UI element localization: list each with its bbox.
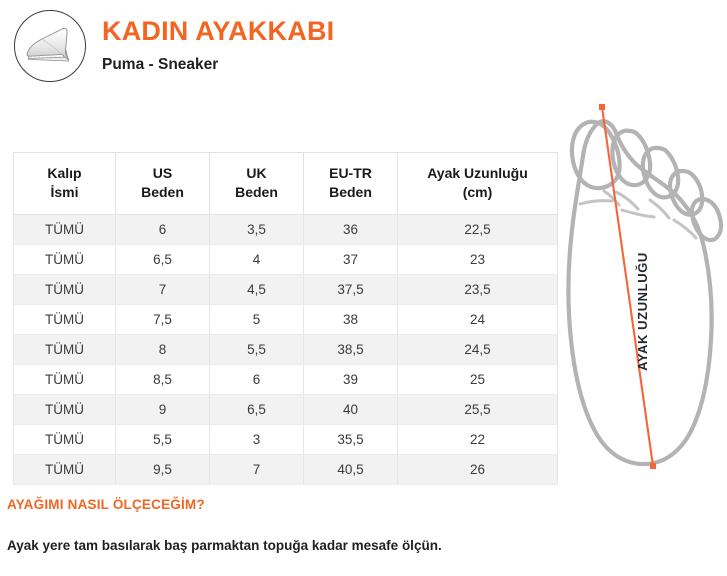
cell-us-beden: 7 [116, 275, 210, 305]
foot-length-label-text: AYAK UZUNLUĞU [635, 252, 650, 371]
cell-us-beden: 6 [116, 215, 210, 245]
cell-kalip-ismi: TÜMÜ [14, 305, 116, 335]
cell-ayak-uzunlugu: 22 [398, 425, 558, 455]
cell-ayak-uzunlugu: 23,5 [398, 275, 558, 305]
table-row: TÜMÜ 7,5 5 38 24 [14, 305, 558, 335]
cell-uk-beden: 4,5 [210, 275, 304, 305]
cell-ayak-uzunlugu: 25,5 [398, 395, 558, 425]
cell-kalip-ismi: TÜMÜ [14, 245, 116, 275]
cell-us-beden: 8 [116, 335, 210, 365]
cell-ayak-uzunlugu: 24,5 [398, 335, 558, 365]
howto-instruction-text: Ayak yere tam basılarak baş parmaktan to… [7, 538, 442, 553]
column-header-us-beden: US Beden [116, 153, 210, 215]
table-row: TÜMÜ 7 4,5 37,5 23,5 [14, 275, 558, 305]
column-header-line1: UK [212, 164, 301, 183]
measure-endpoint-toe [599, 104, 605, 110]
column-header-line1: Ayak Uzunluğu [400, 164, 555, 183]
cell-eu-tr-beden: 37 [304, 245, 398, 275]
measure-endpoint-heel [650, 463, 656, 469]
cell-us-beden: 8,5 [116, 365, 210, 395]
page-header: KADIN AYAKKABI Puma - Sneaker [0, 0, 560, 100]
cell-kalip-ismi: TÜMÜ [14, 275, 116, 305]
cell-eu-tr-beden: 35,5 [304, 425, 398, 455]
cell-us-beden: 9,5 [116, 455, 210, 485]
cell-us-beden: 5,5 [116, 425, 210, 455]
column-header-ayak-uzunlugu: Ayak Uzunluğu (cm) [398, 153, 558, 215]
cell-ayak-uzunlugu: 26 [398, 455, 558, 485]
cell-kalip-ismi: TÜMÜ [14, 335, 116, 365]
cell-us-beden: 9 [116, 395, 210, 425]
cell-kalip-ismi: TÜMÜ [14, 455, 116, 485]
cell-eu-tr-beden: 37,5 [304, 275, 398, 305]
cell-uk-beden: 3,5 [210, 215, 304, 245]
table-row: TÜMÜ 5,5 3 35,5 22 [14, 425, 558, 455]
column-header-line1: US [118, 164, 207, 183]
column-header-line2: Beden [212, 183, 301, 202]
cell-kalip-ismi: TÜMÜ [14, 395, 116, 425]
column-header-uk-beden: UK Beden [210, 153, 304, 215]
table-header-row: Kalıp İsmi US Beden UK Beden EU-TR Beden… [14, 153, 558, 215]
title-block: KADIN AYAKKABI Puma - Sneaker [102, 14, 552, 75]
cell-kalip-ismi: TÜMÜ [14, 425, 116, 455]
table-row: TÜMÜ 8 5,5 38,5 24,5 [14, 335, 558, 365]
cell-eu-tr-beden: 38 [304, 305, 398, 335]
cell-eu-tr-beden: 40 [304, 395, 398, 425]
cell-uk-beden: 7 [210, 455, 304, 485]
cell-eu-tr-beden: 39 [304, 365, 398, 395]
column-header-line2: İsmi [16, 183, 113, 202]
cell-uk-beden: 4 [210, 245, 304, 275]
page-subtitle: Puma - Sneaker [102, 55, 552, 75]
cell-uk-beden: 3 [210, 425, 304, 455]
table-row: TÜMÜ 6,5 4 37 23 [14, 245, 558, 275]
column-header-line2: Beden [118, 183, 207, 202]
column-header-line2: Beden [306, 183, 395, 202]
table-row: TÜMÜ 6 3,5 36 22,5 [14, 215, 558, 245]
cell-ayak-uzunlugu: 24 [398, 305, 558, 335]
cell-us-beden: 6,5 [116, 245, 210, 275]
cell-eu-tr-beden: 40,5 [304, 455, 398, 485]
cell-ayak-uzunlugu: 25 [398, 365, 558, 395]
cell-kalip-ismi: TÜMÜ [14, 365, 116, 395]
howto-heading: AYAĞIMI NASIL ÖLÇECEĞİM? [7, 497, 205, 512]
cell-ayak-uzunlugu: 23 [398, 245, 558, 275]
size-chart-table: Kalıp İsmi US Beden UK Beden EU-TR Beden… [13, 152, 558, 485]
cell-uk-beden: 6 [210, 365, 304, 395]
cell-ayak-uzunlugu: 22,5 [398, 215, 558, 245]
column-header-line2: (cm) [400, 183, 555, 202]
column-header-line1: Kalıp [16, 164, 113, 183]
table-row: TÜMÜ 9,5 7 40,5 26 [14, 455, 558, 485]
cell-eu-tr-beden: 36 [304, 215, 398, 245]
cell-uk-beden: 5,5 [210, 335, 304, 365]
table-row: TÜMÜ 9 6,5 40 25,5 [14, 395, 558, 425]
cell-kalip-ismi: TÜMÜ [14, 215, 116, 245]
cell-uk-beden: 6,5 [210, 395, 304, 425]
cell-uk-beden: 5 [210, 305, 304, 335]
cell-us-beden: 7,5 [116, 305, 210, 335]
column-header-eu-tr-beden: EU-TR Beden [304, 153, 398, 215]
table-row: TÜMÜ 8,5 6 39 25 [14, 365, 558, 395]
column-header-kalip-ismi: Kalıp İsmi [14, 153, 116, 215]
column-header-line1: EU-TR [306, 164, 395, 183]
high-heel-shoe-icon [14, 10, 86, 82]
foot-length-label: AYAK UZUNLUĞU [631, 236, 653, 386]
page-title: KADIN AYAKKABI [102, 14, 552, 48]
cell-eu-tr-beden: 38,5 [304, 335, 398, 365]
